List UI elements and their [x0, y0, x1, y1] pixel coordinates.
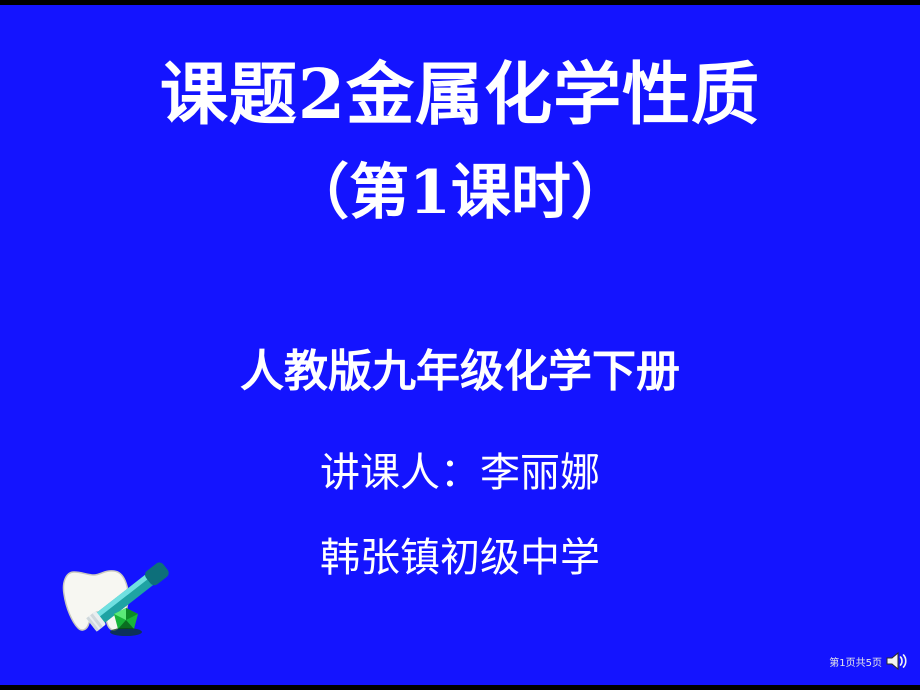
speaker-icon[interactable]: [884, 649, 910, 673]
presenter-name: 讲课人：李丽娜: [0, 453, 920, 493]
page-number: 第1页共5页: [829, 654, 882, 669]
tooth-and-brush-clipart: [28, 558, 158, 663]
title-line-1: 课题2金属化学性质: [0, 57, 920, 133]
presentation-slide: 课题2金属化学性质 （第1课时） 人教版九年级化学下册 讲课人：李丽娜 韩张镇初…: [0, 0, 920, 690]
slide-subtitle: 人教版九年级化学下册: [0, 335, 920, 399]
slide-title: 课题2金属化学性质 （第1课时）: [0, 57, 920, 228]
slide-footer: 第1页共5页: [829, 649, 910, 673]
title-line-2: （第1课时）: [0, 159, 920, 228]
